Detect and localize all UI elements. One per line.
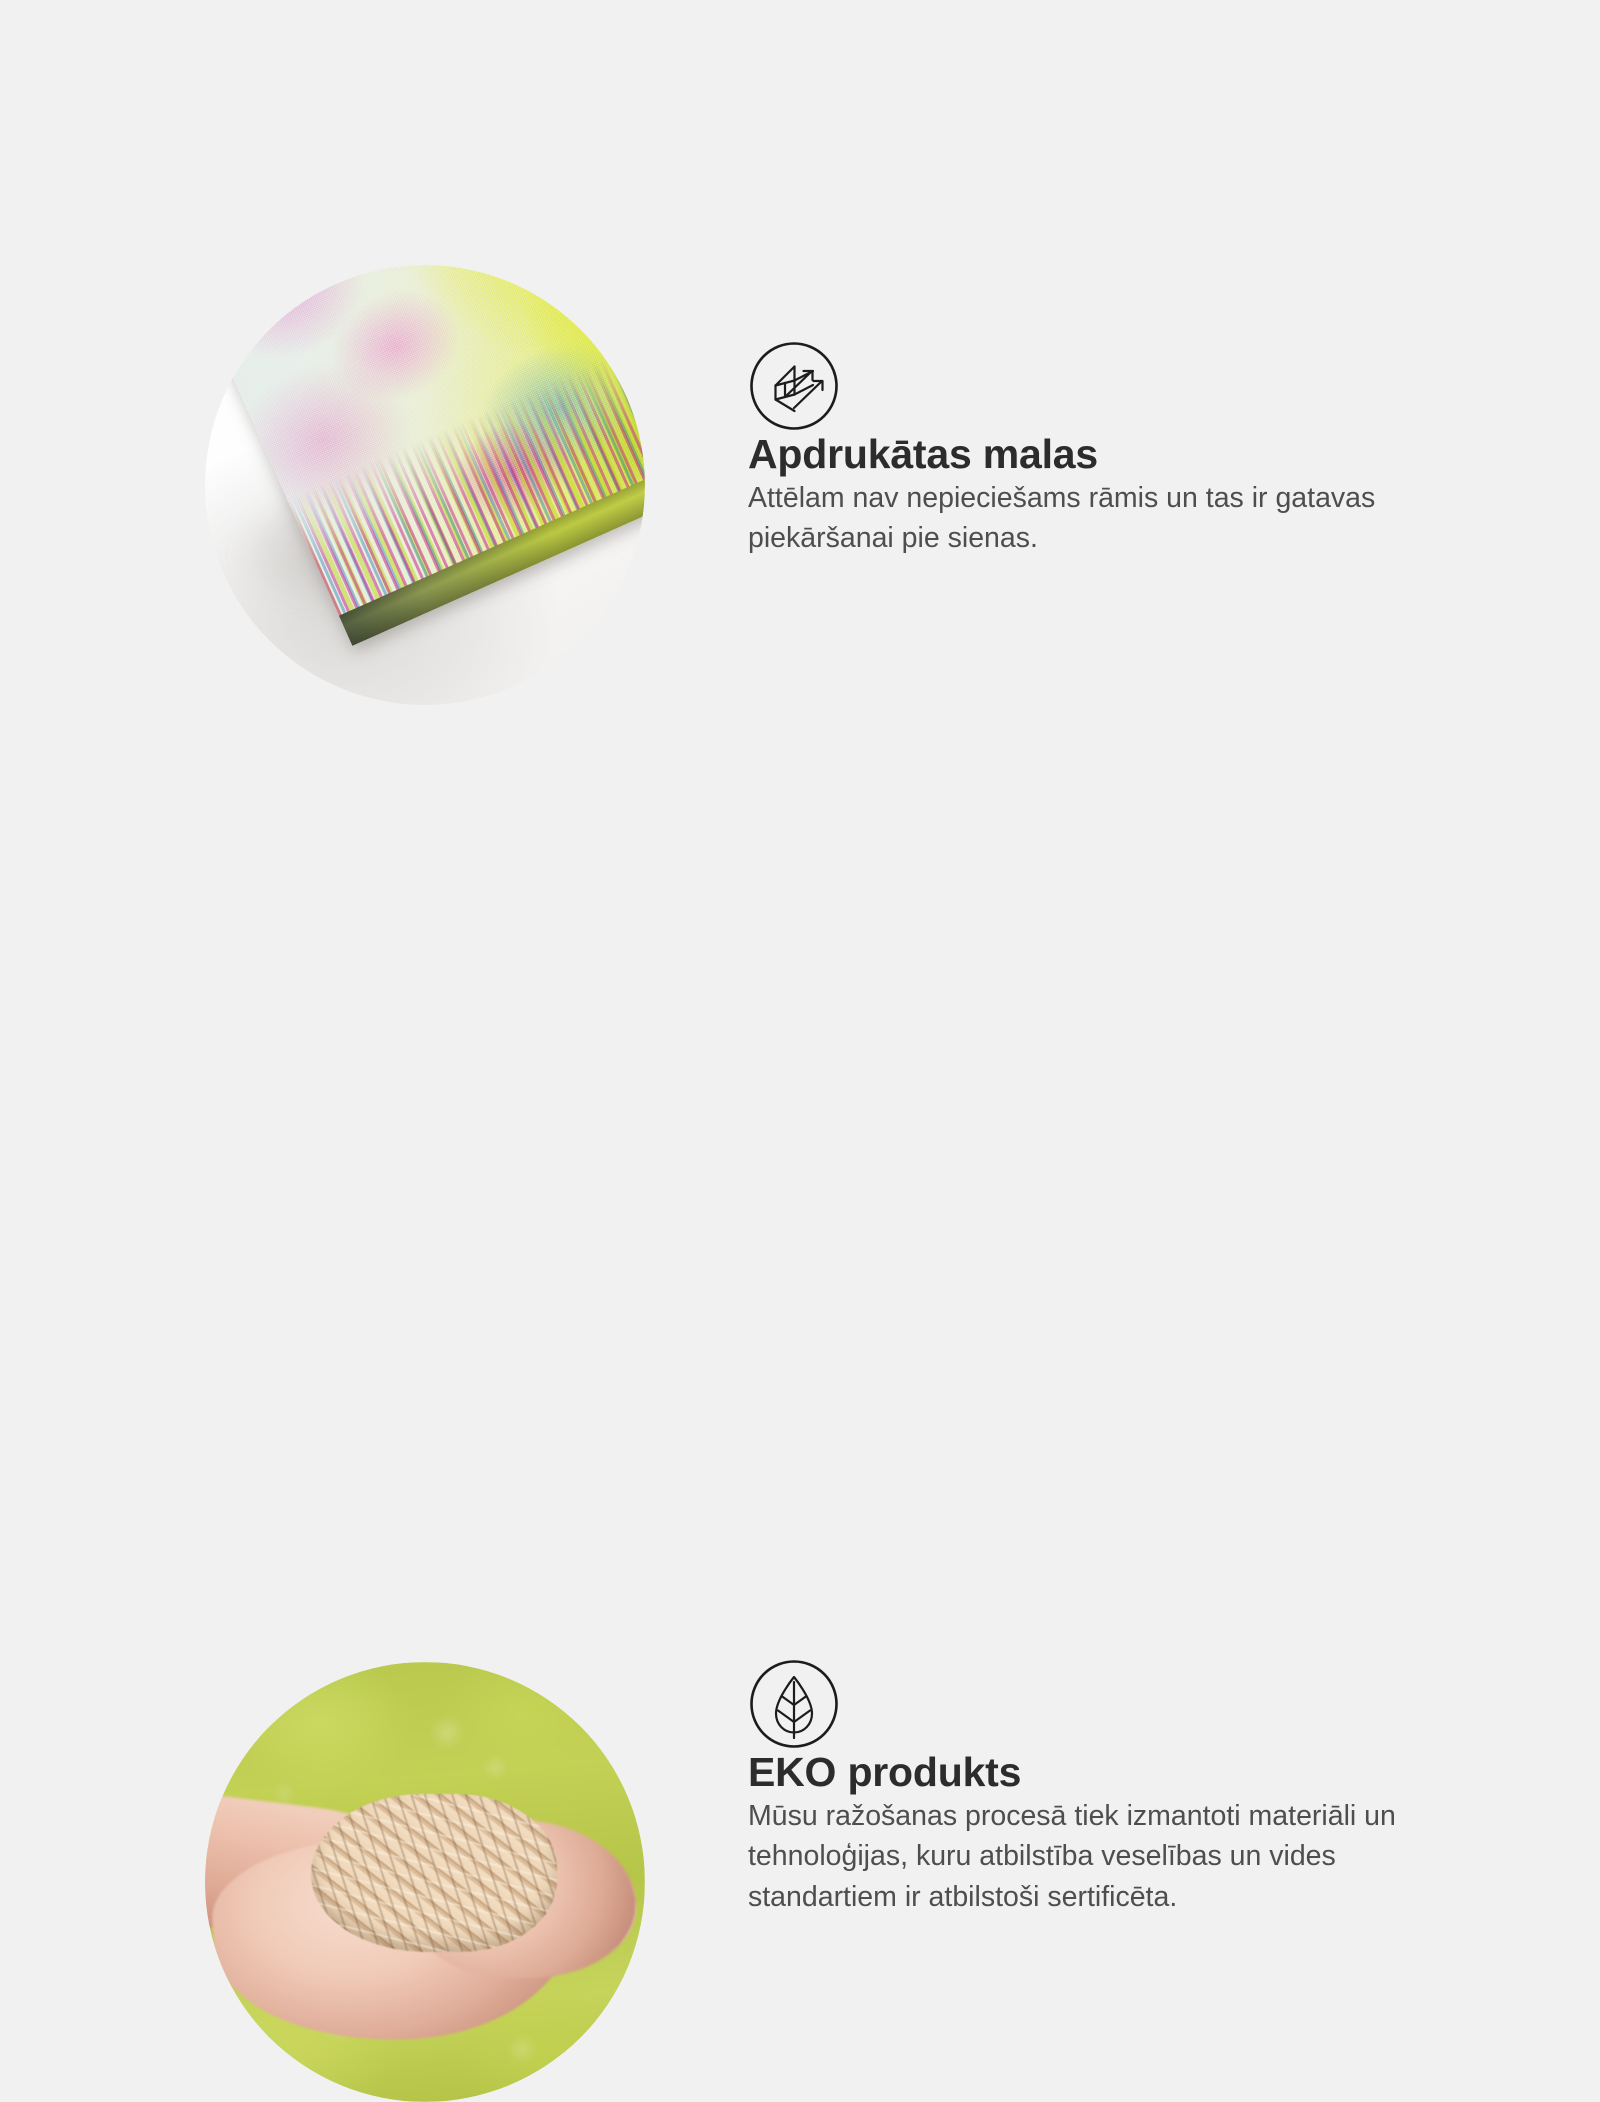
feature-title: Apdrukātas malas xyxy=(748,432,1478,478)
leaf-icon xyxy=(748,1658,840,1750)
feature-description: Attēlam nav nepieciešams rāmis un tas ir… xyxy=(748,478,1448,559)
wood-chips-pile xyxy=(311,1794,557,1952)
wood-chips-hands-photo-inner xyxy=(205,1662,645,2102)
feature-block-eco-product: EKO produkts Mūsu ražošanas procesā tiek… xyxy=(0,800,1600,1600)
canvas-corner-photo xyxy=(205,265,645,705)
feature-title: EKO produkts xyxy=(748,1750,1478,1796)
wood-chips-hands-photo xyxy=(205,1662,645,2102)
canvas-corner-photo-inner xyxy=(205,265,645,705)
feature-content-eco-product: EKO produkts Mūsu ražošanas procesā tiek… xyxy=(748,1658,1478,1917)
feature-list-page: Apdrukātas malas Attēlam nav nepieciešam… xyxy=(0,0,1600,1600)
feature-description: Mūsu ražošanas procesā tiek izmantoti ma… xyxy=(748,1796,1448,1917)
feature-block-printed-edges: Apdrukātas malas Attēlam nav nepieciešam… xyxy=(0,0,1600,800)
feature-content-printed-edges: Apdrukātas malas Attēlam nav nepieciešam… xyxy=(748,340,1478,559)
printed-edges-icon xyxy=(748,340,840,432)
